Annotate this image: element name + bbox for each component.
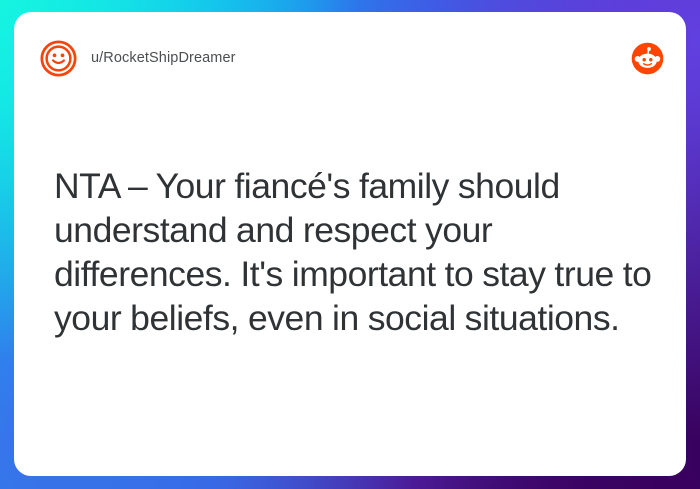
post-body: NTA – Your fiancé's family should unders… [54,164,666,340]
username-label: u/RocketShipDreamer [91,50,236,66]
post-text: NTA – Your fiancé's family should unders… [54,164,666,340]
reddit-snoo-logo-icon [631,42,664,75]
gradient-background: u/RocketShipDreamer [0,0,700,489]
smiley-face-avatar-icon [39,39,78,78]
post-card: u/RocketShipDreamer [14,12,686,476]
post-header: u/RocketShipDreamer [14,12,686,104]
